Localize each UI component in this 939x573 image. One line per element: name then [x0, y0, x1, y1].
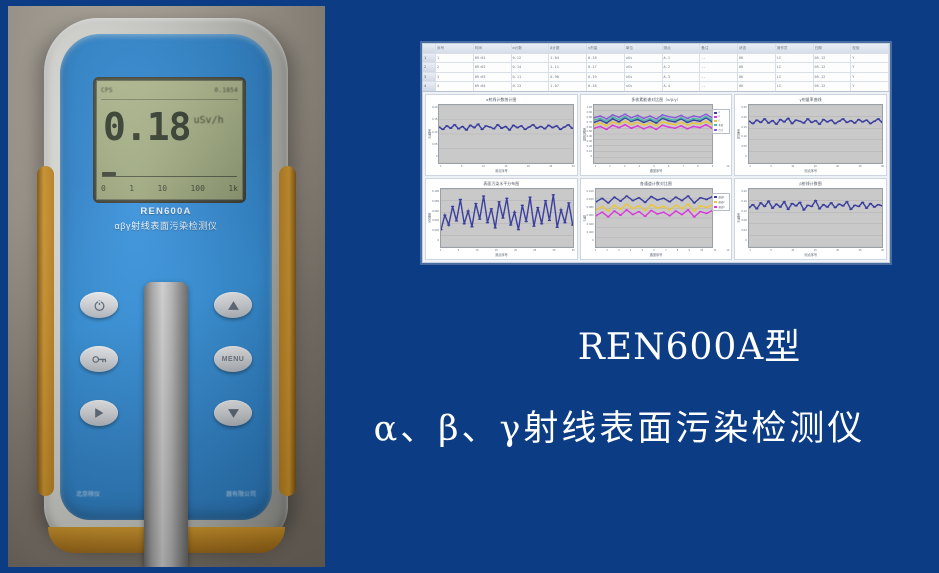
chart-legend-label: γ	[718, 119, 719, 122]
chart-data-point	[443, 214, 446, 216]
chart-data-point	[611, 125, 614, 127]
chart-data-point	[540, 126, 543, 128]
chart-legend-label: 通道1	[718, 195, 724, 199]
chart-y-tick: 0.120	[587, 189, 594, 193]
software-screenshot-panel: 序号 时间 α计数 β计数 γ剂量 单位 测点 备注 状态 操作员 日期 校验 …	[422, 43, 890, 263]
chart-data-point	[821, 119, 824, 121]
chart-legend: αβγ本底合计	[712, 109, 730, 134]
chart-data-point	[636, 117, 639, 119]
spreadsheet-row-header: 3	[423, 73, 436, 82]
chart-plot-area	[593, 104, 713, 164]
spreadsheet-cell: 0.13	[512, 82, 550, 91]
chart-y-tick: 0.10	[432, 130, 437, 134]
chart-data-point	[667, 116, 670, 118]
key-icon	[92, 354, 107, 365]
chart-data-point	[782, 201, 785, 203]
chart-y-tick: 0.020	[587, 230, 594, 234]
chart-data-point	[619, 209, 622, 211]
chart-beta-count[interactable]: β射线计数图计数率0.200.160.120.080.0401510152025…	[734, 178, 887, 260]
chart-data-point	[563, 222, 566, 224]
chart-y-tick: 0	[432, 154, 437, 158]
spreadsheet-header-cell: 测点	[663, 44, 701, 53]
spreadsheet-cell: LI	[776, 73, 814, 82]
chart-y-tick: 0.060	[587, 213, 594, 217]
chart-data-point	[513, 211, 516, 213]
chart-data-point	[540, 223, 543, 225]
spreadsheet-cell: 05-12	[814, 54, 852, 63]
chart-y-tick: 0	[741, 238, 746, 242]
chart-data-point	[551, 127, 554, 129]
spreadsheet-cell: Y	[851, 63, 889, 72]
chart-data-point	[782, 121, 785, 123]
chart-data-point	[661, 114, 664, 116]
chart-x-axis-label: 通道序号	[581, 252, 732, 259]
chart-data-point	[698, 127, 701, 129]
spreadsheet-row[interactable]: 4 4 09:04 0.13 1.07 0.18 uSv A-4 -- OK L…	[423, 82, 889, 91]
chart-y-tick: 0.08	[741, 218, 746, 222]
chart-data-point	[853, 122, 856, 124]
spreadsheet-cell: LI	[776, 82, 814, 91]
chart-data-point	[630, 124, 633, 126]
chart-y-tick: 0.080	[587, 205, 594, 209]
legend-swatch-icon	[714, 196, 717, 198]
chart-data-point	[869, 203, 872, 205]
spreadsheet-header-cell: γ剂量	[587, 44, 625, 53]
down-button[interactable]	[214, 400, 252, 426]
chart-data-point	[536, 207, 539, 209]
chart-data-point	[667, 118, 670, 120]
chart-y-tick: 0.020	[432, 228, 439, 232]
chart-legend-item: 通道3	[714, 205, 728, 209]
chart-data-point	[512, 125, 515, 127]
chart-data-point	[655, 125, 658, 127]
spreadsheet-cell: 1.11	[549, 63, 587, 72]
key-button[interactable]	[80, 346, 118, 372]
chart-data-point	[605, 125, 608, 127]
chart-data-point	[655, 118, 658, 120]
chart-data-point	[642, 120, 645, 122]
chart-data-point	[662, 198, 665, 200]
chart-data-point	[509, 224, 512, 226]
spreadsheet-header-cell: 日期	[814, 44, 852, 53]
chart-surface-contam[interactable]: 表面污染水平分布图污染度0.1000.0800.0600.0400.020015…	[425, 178, 578, 260]
chart-data-point	[463, 223, 466, 225]
chart-data-point	[613, 196, 616, 198]
lcd-reading: 0.18 uSv/h	[103, 103, 238, 151]
chart-data-point	[447, 224, 450, 226]
chart-data-point	[680, 122, 683, 124]
chart-data-point	[493, 128, 496, 130]
product-description-title: α、β、γ射线表面污染检测仪	[300, 400, 939, 451]
spreadsheet-cell: 0.18	[587, 82, 625, 91]
chart-data-point	[613, 204, 616, 206]
chart-y-ticks: 0.1200.1000.0800.0600.0400.0200	[587, 188, 595, 248]
spreadsheet-cell: Y	[851, 73, 889, 82]
chart-data-point	[532, 225, 535, 227]
chart-data-point	[699, 205, 702, 207]
spreadsheet-cell: 0.17	[587, 63, 625, 72]
chart-data-point	[555, 227, 558, 229]
chart-x-axis-label: 测点序号	[426, 168, 577, 175]
power-button[interactable]	[80, 292, 118, 318]
chart-alpha-count[interactable]: α射线计数统计图计数率0.200.150.100.050151015202530…	[425, 94, 578, 176]
chart-y-tick: 0.20	[741, 115, 746, 119]
chart-data-point	[829, 202, 832, 204]
chart-data-point	[600, 198, 603, 200]
chart-data-point	[705, 207, 708, 209]
legend-swatch-icon	[714, 124, 717, 126]
chart-multi-nuclide[interactable]: 多核素能谱对比图（α/β/γ）相对强度1.000.900.800.700.600…	[580, 94, 733, 176]
spreadsheet-header-cell: 校验	[851, 44, 889, 53]
chart-data-point	[673, 117, 676, 119]
chart-data-point	[833, 207, 836, 209]
chart-data-point	[794, 205, 797, 207]
spreadsheet-header-cell: 时间	[474, 44, 512, 53]
chart-legend-label: 通道3	[718, 205, 724, 209]
chart-data-point	[625, 195, 628, 197]
spreadsheet-cell: 09:04	[474, 82, 512, 91]
spreadsheet-cell: 0.19	[587, 73, 625, 82]
chart-data-point	[771, 120, 774, 122]
lcd-scale-tick: 100	[190, 184, 204, 193]
chart-data-point	[825, 121, 828, 123]
chart-legend-item: β	[714, 115, 728, 118]
spreadsheet-cell: 0.18	[587, 54, 625, 63]
device-grip-right	[279, 166, 296, 496]
chart-data-point	[686, 118, 689, 120]
chart-data-point	[497, 201, 500, 203]
chart-data-point	[680, 117, 683, 119]
chart-data-point	[655, 120, 658, 122]
chart-data-point	[544, 200, 547, 202]
device-front-panel: CPS 0.1854 0.18 uSv/h 0 1 10 100 1k	[60, 34, 272, 520]
lcd-scale-tick: 10	[157, 184, 167, 193]
chart-data-point	[567, 202, 570, 204]
chart-data-point	[698, 120, 701, 122]
chart-data-point	[668, 215, 671, 217]
menu-button[interactable]: MENU	[214, 346, 252, 372]
chart-data-point	[643, 210, 646, 212]
chart-legend-item: 合计	[714, 128, 728, 132]
chart-data-point	[559, 129, 562, 131]
chart-data-point	[516, 127, 519, 129]
spreadsheet-cell: --	[700, 73, 738, 82]
lcd-scale-tick: 1	[129, 184, 134, 193]
chart-data-point	[686, 120, 689, 122]
device-face-footer: 北京核仪 器有限公司	[60, 489, 272, 498]
chart-data-point	[489, 126, 492, 128]
chart-data-point	[845, 122, 848, 124]
chart-y-tick: 0	[587, 154, 592, 158]
chart-x-axis-label: 测点序号	[735, 168, 886, 175]
chart-y-tick: 0.16	[741, 199, 746, 203]
chart-data-point	[606, 216, 609, 218]
spreadsheet-cell: OK	[738, 54, 776, 63]
legend-swatch-icon	[714, 201, 717, 203]
chart-data-point	[624, 114, 627, 116]
chart-data-point	[778, 206, 781, 208]
chart-data-point	[501, 217, 504, 219]
chart-data-point	[605, 122, 608, 124]
chart-data-point	[619, 200, 622, 202]
chart-data-point	[636, 125, 639, 127]
chart-data-point	[457, 128, 460, 130]
chart-data-point	[786, 209, 789, 211]
chart-data-point	[673, 121, 676, 123]
chart-data-point	[446, 125, 449, 127]
spreadsheet-row[interactable]: 1 1 09:01 0.12 1.04 0.18 uSv A-1 -- OK L…	[423, 54, 889, 64]
chart-data-point	[599, 126, 602, 128]
chart-data-point	[642, 128, 645, 130]
spreadsheet-header-cell: 备注	[700, 44, 738, 53]
chart-data-point	[841, 118, 844, 120]
lcd-unit: uSv/h	[194, 115, 224, 126]
chart-data-point	[692, 126, 695, 128]
chart-data-point	[814, 120, 817, 122]
spreadsheet-cell: 09:03	[474, 73, 512, 82]
chart-data-point	[624, 124, 627, 126]
legend-swatch-icon	[714, 206, 717, 208]
chart-title: γ剂量率曲线	[735, 95, 886, 103]
chart-title: α射线计数统计图	[426, 95, 577, 103]
chart-legend-label: α	[718, 111, 719, 114]
chart-data-point	[474, 203, 477, 205]
chart-data-point	[631, 208, 634, 210]
chart-y-tick: 0.50	[587, 129, 592, 133]
chart-data-point	[810, 206, 813, 208]
chart-data-point	[686, 128, 689, 130]
chart-data-point	[655, 122, 658, 124]
chart-y-tick: 0.25	[741, 105, 746, 109]
legend-swatch-icon	[714, 112, 717, 114]
chart-data-point	[617, 123, 620, 125]
chart-data-point	[699, 211, 702, 213]
chart-data-point	[649, 204, 652, 206]
chart-data-point	[774, 123, 777, 125]
chart-data-point	[442, 129, 445, 131]
chart-data-point	[630, 119, 633, 121]
chart-y-tick: 0	[432, 238, 439, 242]
chart-data-point	[481, 129, 484, 131]
chart-data-point	[470, 226, 473, 228]
chart-data-point	[698, 116, 701, 118]
spreadsheet-cell: 3	[436, 73, 474, 82]
chart-data-point	[449, 127, 452, 129]
chart-data-point	[825, 206, 828, 208]
chart-data-point	[547, 125, 550, 127]
chart-title: 多核素能谱对比图（α/β/γ）	[581, 95, 732, 103]
chart-plot-area	[748, 104, 883, 164]
chart-data-point	[767, 200, 770, 202]
chart-data-point	[668, 201, 671, 203]
chart-plot-area	[438, 104, 573, 164]
chart-y-tick: 1.00	[587, 105, 592, 109]
chart-data-point	[485, 125, 488, 127]
legend-swatch-icon	[714, 120, 717, 122]
chart-data-point	[837, 203, 840, 205]
chart-data-point	[818, 208, 821, 210]
chart-legend: 通道1通道2通道3	[712, 193, 730, 211]
chart-data-point	[759, 202, 762, 204]
chart-data-point	[649, 115, 652, 117]
chart-data-point	[692, 119, 695, 121]
chart-data-point	[631, 214, 634, 216]
chart-data-point	[532, 124, 535, 126]
chart-x-axis-label: 通道序号	[581, 168, 732, 175]
spreadsheet-cell: uSv	[625, 63, 663, 72]
chart-data-point	[552, 194, 555, 196]
triangle-down-icon	[227, 408, 240, 419]
chart-gamma-dose[interactable]: γ剂量率曲线剂量率0.250.200.150.100.0501510152025…	[734, 94, 887, 176]
up-button[interactable]	[214, 292, 252, 318]
chart-data-point	[571, 224, 573, 226]
chart-data-point	[605, 120, 608, 122]
spreadsheet-cell: 1	[436, 54, 474, 63]
chart-data-point	[477, 123, 480, 125]
chart-data-point	[548, 220, 551, 222]
play-button[interactable]	[80, 400, 118, 426]
chart-data-point	[637, 211, 640, 213]
chart-data-point	[605, 118, 608, 120]
chart-data-point	[611, 121, 614, 123]
chart-data-point	[624, 116, 627, 118]
spreadsheet-cell: 05-12	[814, 63, 852, 72]
chart-data-point	[625, 209, 628, 211]
chart-legend-label: 通道2	[718, 200, 724, 204]
chart-data-point	[806, 204, 809, 206]
chart-data-point	[680, 125, 683, 127]
chart-data-point	[794, 119, 797, 121]
chart-title: β射线计数图	[735, 179, 886, 187]
spreadsheet-cell: LI	[776, 54, 814, 63]
spreadsheet-cell: A-2	[663, 63, 701, 72]
chart-channel-compare[interactable]: 各通道计数对比图计数0.1200.1000.0800.0600.0400.020…	[580, 178, 733, 260]
chart-data-point	[459, 199, 462, 201]
chart-data-point	[563, 126, 566, 128]
chart-plot-area	[440, 188, 574, 248]
chart-data-point	[699, 197, 702, 199]
chart-legend-item: 本底	[714, 123, 728, 127]
spreadsheet-cell: 09:02	[474, 63, 512, 72]
spreadsheet-cell: A-3	[663, 73, 701, 82]
chart-data-point	[469, 125, 472, 127]
spreadsheet-row[interactable]: 2 2 09:02 0.14 1.11 0.17 uSv A-2 -- OK L…	[423, 63, 889, 73]
chart-data-point	[656, 207, 659, 209]
chart-data-point	[630, 117, 633, 119]
device-footer-left: 北京核仪	[76, 489, 100, 498]
chart-data-point	[667, 120, 670, 122]
lcd-bezel: CPS 0.1854 0.18 uSv/h 0 1 10 100 1k	[93, 77, 246, 203]
chart-y-tick: 0.100	[432, 189, 439, 193]
chart-data-point	[606, 202, 609, 204]
chart-legend-label: 合计	[718, 128, 723, 132]
chart-data-point	[767, 122, 770, 124]
chart-data-point	[686, 209, 689, 211]
chart-data-point	[674, 204, 677, 206]
chart-data-point	[755, 208, 758, 210]
chart-data-point	[661, 125, 664, 127]
chart-data-point	[876, 118, 879, 120]
chart-y-tick: 0.90	[587, 110, 592, 114]
chart-y-tick: 0.15	[741, 125, 746, 129]
chart-data-point	[821, 204, 824, 206]
chart-y-tick: 0.040	[432, 218, 439, 222]
chart-data-point	[655, 129, 658, 131]
triangle-right-icon	[93, 407, 105, 419]
chart-data-point	[872, 120, 875, 122]
chart-data-point	[806, 118, 809, 120]
chart-data-point	[673, 124, 676, 126]
chart-data-point	[790, 123, 793, 125]
chart-data-point	[861, 121, 864, 123]
chart-data-point	[524, 129, 527, 131]
chart-data-point	[624, 120, 627, 122]
chart-data-point	[661, 121, 664, 123]
chart-y-tick: 0.30	[587, 139, 592, 143]
chart-y-tick: 0.04	[741, 228, 746, 232]
lcd-scale-tick: 0	[101, 184, 106, 193]
chart-legend-item: γ	[714, 119, 728, 122]
chart-data-point	[521, 204, 524, 206]
spreadsheet-header-cell: 操作员	[776, 44, 814, 53]
spreadsheet-cell: Y	[851, 82, 889, 91]
chart-data-point	[845, 201, 848, 203]
device-model-text: REN600A	[60, 206, 272, 217]
chart-data-point	[600, 211, 603, 213]
chart-data-point	[686, 125, 689, 127]
spreadsheet-cell: uSv	[625, 73, 663, 82]
chart-data-point	[453, 124, 456, 126]
lcd-value: 0.18	[103, 108, 191, 146]
chart-data-point	[802, 209, 805, 211]
chart-data-point	[649, 122, 652, 124]
chart-data-point	[611, 114, 614, 116]
chart-data-point	[759, 122, 762, 124]
chart-data-point	[667, 126, 670, 128]
device-footer-right: 器有限公司	[226, 489, 256, 498]
spreadsheet-header-cell: β计数	[549, 44, 587, 53]
chart-data-point	[617, 116, 620, 118]
chart-y-tick: 0.20	[741, 189, 746, 193]
chart-data-point	[841, 205, 844, 207]
spreadsheet-row[interactable]: 3 3 09:03 0.11 0.98 0.19 uSv A-3 -- OK L…	[423, 73, 889, 83]
chart-data-point	[692, 210, 695, 212]
chart-data-point	[508, 129, 511, 131]
spreadsheet-cell: 05-12	[814, 73, 852, 82]
chart-data-point	[656, 199, 659, 201]
chart-data-point	[876, 204, 879, 206]
chart-data-point	[692, 216, 695, 218]
spreadsheet-row-header: 1	[423, 54, 436, 63]
chart-legend-label: 本底	[718, 123, 723, 127]
chart-data-point	[504, 126, 507, 128]
chart-data-point	[705, 116, 708, 118]
chart-data-point	[482, 195, 485, 197]
chart-legend-item: α	[714, 111, 728, 114]
chart-data-point	[606, 210, 609, 212]
chart-data-point	[656, 213, 659, 215]
device-grip-left	[37, 166, 54, 496]
spreadsheet-header-cell: α计数	[512, 44, 550, 53]
chart-data-point	[631, 200, 634, 202]
chart-data-point	[543, 128, 546, 130]
chart-data-point	[643, 216, 646, 218]
spreadsheet-cell: 09:01	[474, 54, 512, 63]
lcd-bargraph-axis	[102, 176, 237, 177]
chart-data-point	[636, 115, 639, 117]
chart-y-tick: 0.080	[432, 199, 439, 203]
chart-data-point	[528, 126, 531, 128]
